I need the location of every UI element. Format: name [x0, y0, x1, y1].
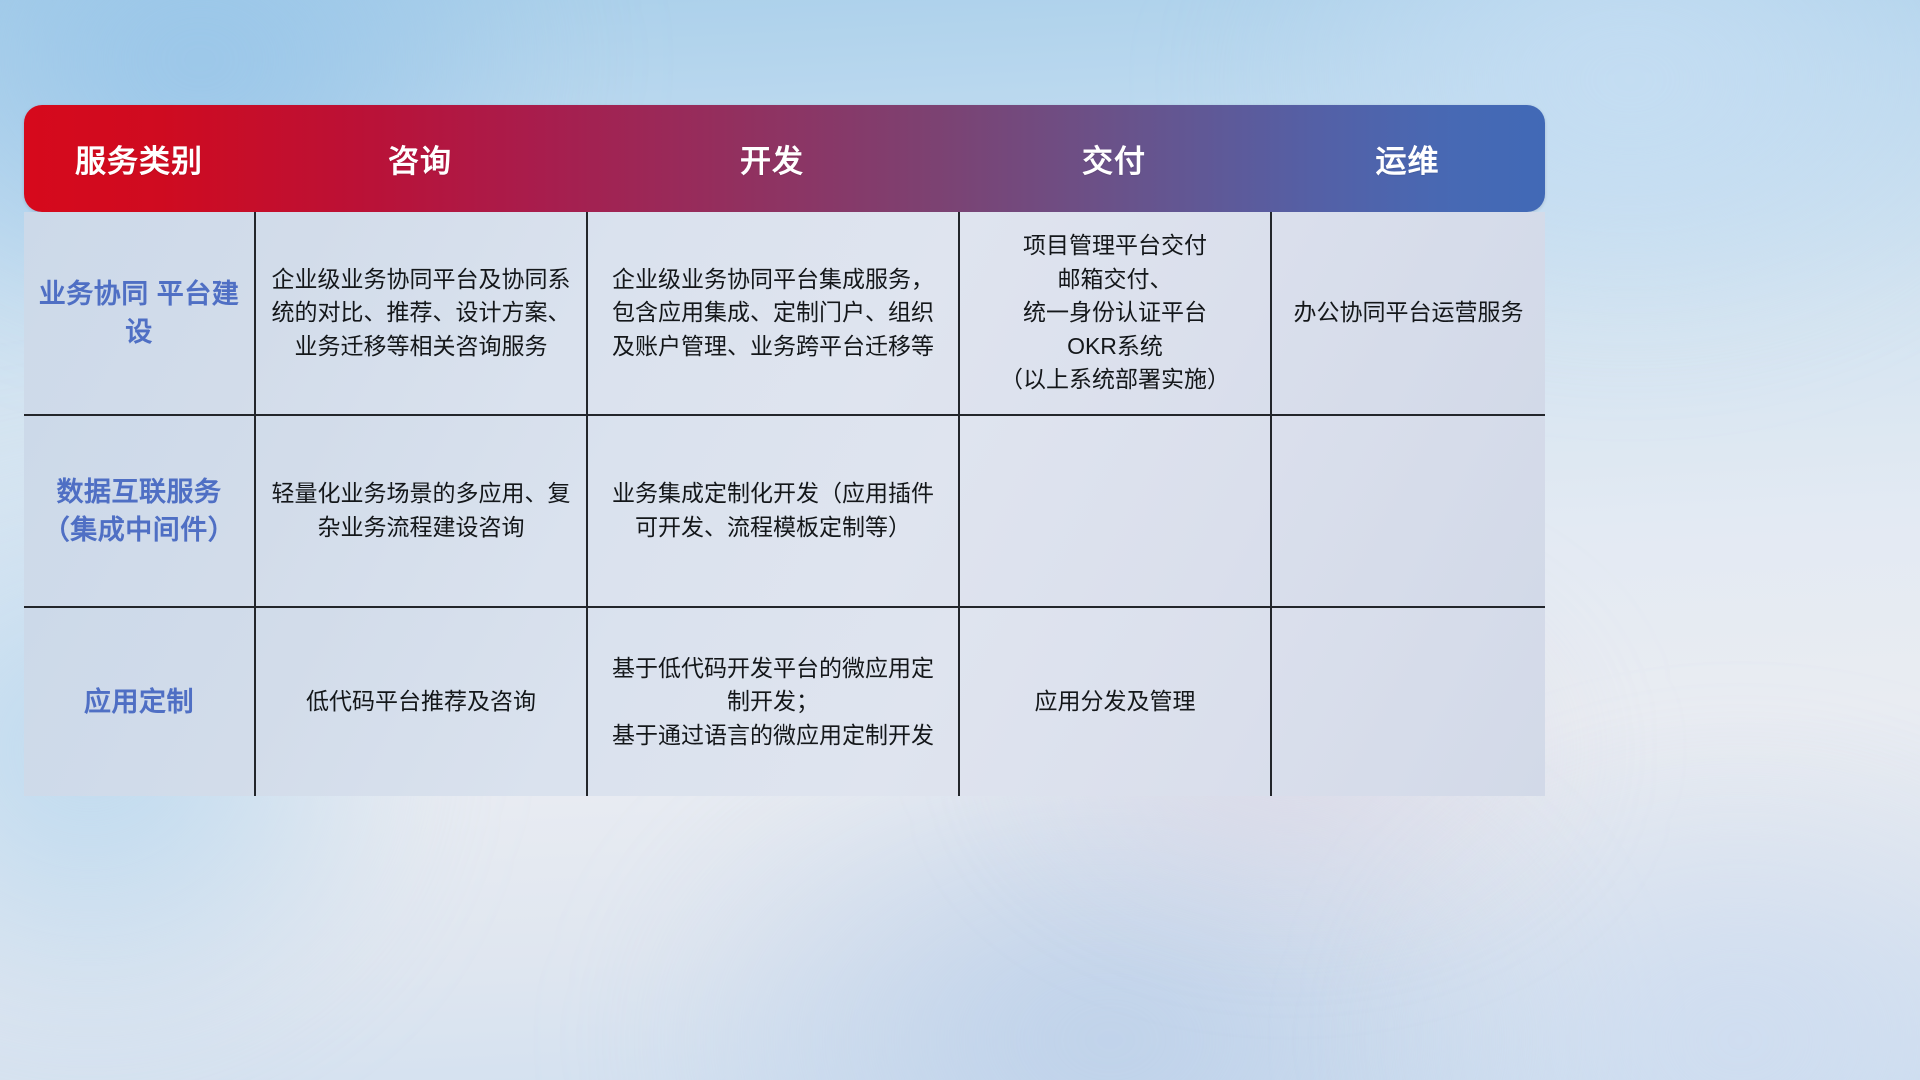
row-label-cell: 业务协同 平台建设: [24, 212, 254, 414]
cell-development: 业务集成定制化开发（应用插件 可开发、流程模板定制等）: [586, 416, 958, 606]
table-body: 业务协同 平台建设 企业级业务协同平台及协同系 统的对比、推荐、设计方案、 业务…: [24, 212, 1545, 796]
column-header-operations: 运维: [1270, 136, 1545, 181]
cell-development: 企业级业务协同平台集成服务， 包含应用集成、定制门户、组织 及账户管理、业务跨平…: [586, 212, 958, 414]
column-header-development: 开发: [586, 136, 958, 181]
row-label-text: 数据互联服务 （集成中间件）: [36, 473, 242, 550]
column-header-service-category: 服务类别: [24, 136, 254, 181]
cell-text: 企业级业务协同平台集成服务， 包含应用集成、定制门户、组织 及账户管理、业务跨平…: [612, 263, 934, 364]
cell-text: 企业级业务协同平台及协同系 统的对比、推荐、设计方案、 业务迁移等相关咨询服务: [272, 263, 571, 364]
cell-text: 业务集成定制化开发（应用插件 可开发、流程模板定制等）: [612, 477, 934, 544]
cell-text: 项目管理平台交付 邮箱交付、 统一身份认证平台 OKR系统 （以上系统部署实施）: [1000, 229, 1230, 397]
row-label-cell: 数据互联服务 （集成中间件）: [24, 416, 254, 606]
table-row: 应用定制 低代码平台推荐及咨询 基于低代码开发平台的微应用定 制开发； 基于通过…: [24, 606, 1545, 796]
row-label-cell: 应用定制: [24, 608, 254, 796]
cell-delivery: [958, 416, 1270, 606]
cell-text: 办公协同平台运营服务: [1294, 296, 1524, 330]
cell-consulting: 低代码平台推荐及咨询: [254, 608, 586, 796]
cell-operations: 办公协同平台运营服务: [1270, 212, 1545, 414]
cell-delivery: 项目管理平台交付 邮箱交付、 统一身份认证平台 OKR系统 （以上系统部署实施）: [958, 212, 1270, 414]
table-header-row: 服务类别 咨询 开发 交付 运维: [24, 105, 1545, 212]
cell-operations: [1270, 416, 1545, 606]
cell-operations: [1270, 608, 1545, 796]
service-matrix-table: 服务类别 咨询 开发 交付 运维 业务协同 平台建设 企业级业务协同平台及协同系…: [24, 105, 1545, 775]
table-row: 业务协同 平台建设 企业级业务协同平台及协同系 统的对比、推荐、设计方案、 业务…: [24, 212, 1545, 414]
row-label-text: 应用定制: [84, 683, 194, 721]
cell-consulting: 企业级业务协同平台及协同系 统的对比、推荐、设计方案、 业务迁移等相关咨询服务: [254, 212, 586, 414]
cell-text: 轻量化业务场景的多应用、复 杂业务流程建设咨询: [272, 477, 571, 544]
column-header-consulting: 咨询: [254, 136, 586, 181]
cell-delivery: 应用分发及管理: [958, 608, 1270, 796]
cell-text: 应用分发及管理: [1035, 685, 1196, 719]
row-label-text: 业务协同 平台建设: [36, 275, 242, 352]
column-header-delivery: 交付: [958, 136, 1270, 181]
cell-consulting: 轻量化业务场景的多应用、复 杂业务流程建设咨询: [254, 416, 586, 606]
table-row: 数据互联服务 （集成中间件） 轻量化业务场景的多应用、复 杂业务流程建设咨询 业…: [24, 414, 1545, 606]
cell-text: 低代码平台推荐及咨询: [306, 685, 536, 719]
cell-development: 基于低代码开发平台的微应用定 制开发； 基于通过语言的微应用定制开发: [586, 608, 958, 796]
cell-text: 基于低代码开发平台的微应用定 制开发； 基于通过语言的微应用定制开发: [612, 652, 934, 753]
